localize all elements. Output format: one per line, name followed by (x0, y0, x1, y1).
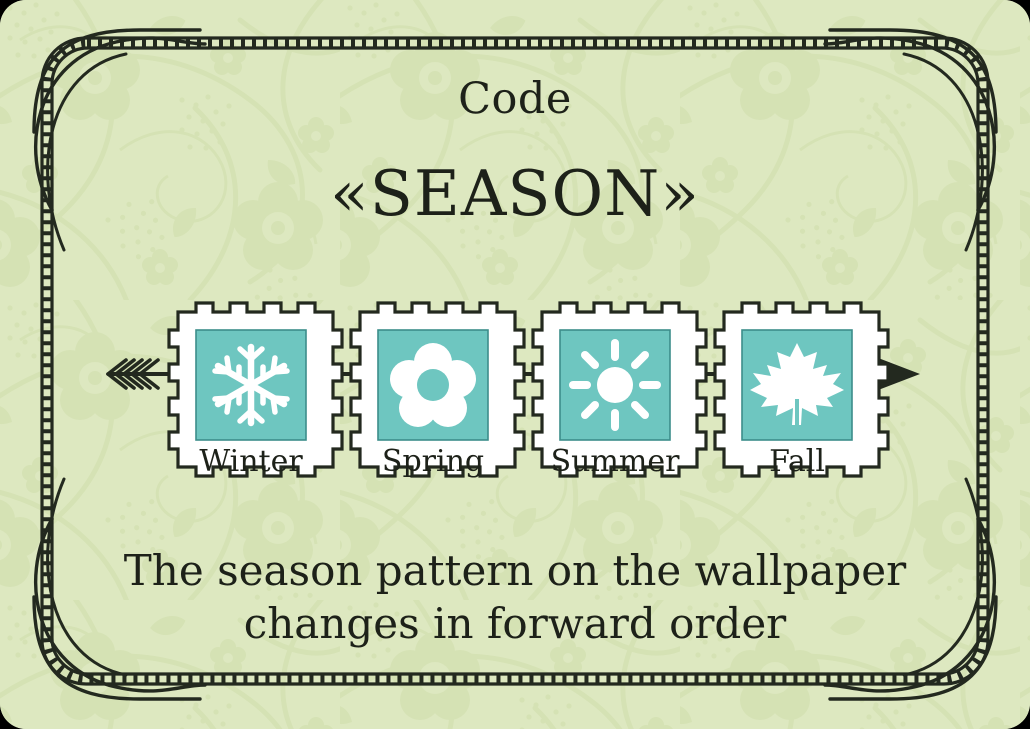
stamp-label-spring: Spring (360, 447, 506, 477)
caption-text: The season pattern on the wallpaper chan… (60, 545, 970, 650)
season-labels: Winter Spring Summer Fall (0, 447, 1030, 487)
page-title: «SEASON» (0, 162, 1030, 225)
stamp-label-winter: Winter (178, 447, 324, 477)
season-code-card: Code «SEASON» (0, 0, 1030, 729)
stamp-label-fall: Fall (724, 447, 870, 477)
code-word-label: Code (0, 78, 1030, 121)
caption-line-2: changes in forward order (60, 598, 970, 651)
caption-line-1: The season pattern on the wallpaper (60, 545, 970, 598)
stamp-label-summer: Summer (542, 447, 688, 477)
